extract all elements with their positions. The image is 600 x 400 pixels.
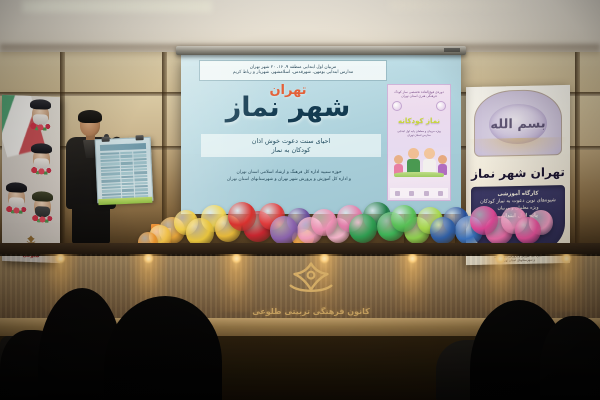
- venue-logo-text: کانون فرهنگی تربیتی طلوعی: [236, 307, 386, 316]
- spotlight-core: [408, 254, 417, 263]
- spotlight-core: [496, 254, 505, 263]
- projector-screen-roller[interactable]: [176, 46, 466, 55]
- slide-subtitle-line2: کودکان به نماز: [203, 146, 379, 155]
- poster-children-illustration: [392, 143, 446, 179]
- banner-gold-glow: [468, 137, 568, 161]
- chart-clip-right-icon: [136, 135, 144, 140]
- spotlight-core: [144, 254, 153, 263]
- portrait-khamenei: [33, 148, 50, 169]
- projection-screen: مربیان اول ابتدایی منطقه ۹، ۱۶، ۲۰ شهر ت…: [181, 54, 461, 214]
- poster-footer-icons: [390, 188, 448, 198]
- schedule-chart: [95, 137, 154, 203]
- poster-line: ویژه مربیان و معلمان پایه اول ابتدایی مد…: [394, 129, 444, 137]
- slide-subtitle: احیای سنت دعوت خوش اذان کودکان به نماز: [201, 134, 381, 157]
- portrait-khomeini: [32, 104, 49, 125]
- poster-title: نماز کودکانه: [394, 117, 444, 125]
- presenter-hair: [78, 110, 102, 123]
- banner-calligraphy: بسم الله: [475, 116, 561, 133]
- poster-icon-3: [424, 191, 429, 196]
- balloon: [270, 216, 298, 245]
- balloon: [228, 202, 256, 231]
- poster-header-line2: فرهنگی هنری استان تهران: [392, 94, 446, 98]
- slide-header-line2: مدارس ابتدایی بومهن، شهرقدس، اسلامشهر، ش…: [233, 71, 354, 76]
- venue-logo-block: کانون فرهنگی تربیتی طلوعی: [236, 256, 386, 320]
- balloon: [430, 217, 456, 244]
- chart-header-band: [100, 143, 146, 151]
- slide-footer: حوزه ستیید اداره کل فرهنگ و ارشاد اسلامی…: [191, 170, 387, 183]
- chart-clip-left-icon: [102, 137, 110, 142]
- ceiling-light-left: [22, 0, 212, 12]
- auditorium-photo: کانون فرهنگی تربیتی طلوعی مربیان اول ابت…: [0, 0, 600, 400]
- slide-footer-line2: و اداره کل آموزش و پرورش شهر تهران و شهر…: [191, 177, 387, 184]
- slide-title-main: شهر نماز: [195, 92, 381, 123]
- balloon: [311, 209, 337, 236]
- balloon: [349, 214, 377, 243]
- kid-boy-white: [423, 148, 436, 175]
- spotlight-core: [562, 254, 571, 263]
- roller-brand-label: [444, 48, 460, 52]
- slide-header-box: مربیان اول ابتدایی منطقه ۹، ۱۶، ۲۰ شهر ت…: [199, 60, 387, 81]
- poster-badge-right-icon: [436, 101, 446, 111]
- poster-badge-left-icon: [392, 101, 402, 111]
- balloon: [391, 205, 417, 232]
- slide-poster-graphic: دوره‌ی فوق‌العاده تخصصی نماز کودک فرهنگی…: [387, 84, 451, 201]
- ceiling-light-right: [390, 0, 520, 9]
- poster-header: دوره‌ی فوق‌العاده تخصصی نماز کودک فرهنگی…: [392, 90, 446, 99]
- banner-title: تهران شهر نماز: [470, 165, 566, 181]
- spotlight-core: [56, 254, 65, 263]
- presentation-slide: مربیان اول ابتدایی منطقه ۹، ۱۶، ۲۰ شهر ت…: [181, 54, 461, 214]
- slide-subtitle-line1: احیای سنت دعوت خوش اذان: [203, 137, 379, 146]
- slide-footer-line1: حوزه ستیید اداره کل فرهنگ و ارشاد اسلامی…: [191, 170, 387, 177]
- chart-rows: [100, 151, 148, 199]
- balloon: [470, 206, 498, 235]
- kanoon-tulip-logo-icon: [282, 260, 340, 296]
- poster-ground: [394, 172, 444, 177]
- balloon: [515, 217, 541, 244]
- poster-icon-1: [395, 191, 400, 196]
- poster-line1: ویژه مربیان و معلمان پایه اول ابتدایی مد…: [394, 129, 444, 137]
- poster-icon-2: [409, 191, 414, 196]
- poster-icon-4: [438, 191, 443, 196]
- kid-boy-center: [407, 148, 420, 175]
